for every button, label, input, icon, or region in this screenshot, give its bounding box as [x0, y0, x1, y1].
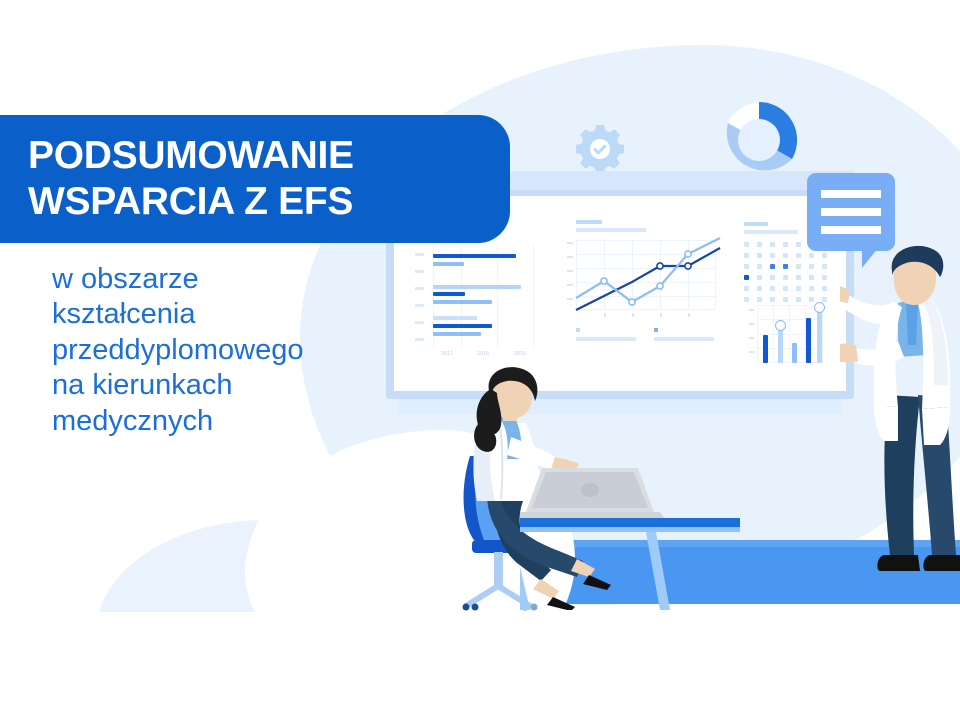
line-chart	[562, 220, 722, 380]
subtitle-line-3: przeddyplomowego	[52, 333, 412, 368]
title-line-1: PODSUMOWANIE	[28, 133, 510, 179]
speech-bubble-icon	[807, 173, 895, 251]
horizontal-bar-chart: 2017 2016 2015	[415, 245, 545, 365]
subtitle-line-5: medycznych	[52, 404, 412, 439]
title-banner: PODSUMOWANIE WSPARCIA Z EFS	[0, 115, 510, 243]
donut-chart-icon	[718, 99, 800, 181]
subtitle: w obszarze kształcenia przeddyplomowego …	[52, 262, 412, 439]
axis-tick-label: 2016	[477, 351, 489, 357]
poster-root: 2017 2016 2015	[0, 0, 960, 728]
footer-logo-bar: Fundusze Europejskie Wiedza Edukacja Roz…	[0, 612, 960, 728]
subtitle-line-4: na kierunkach	[52, 368, 412, 403]
desk	[520, 460, 750, 610]
axis-tick-label: 2017	[441, 351, 453, 357]
subtitle-line-2: kształcenia	[52, 297, 412, 332]
axis-tick-label: 2015	[514, 351, 526, 357]
standing-man-doctor	[840, 245, 960, 600]
title-line-2: WSPARCIA Z EFS	[28, 179, 510, 225]
subtitle-line-1: w obszarze	[52, 262, 412, 297]
vertical-bar-chart	[747, 305, 823, 377]
